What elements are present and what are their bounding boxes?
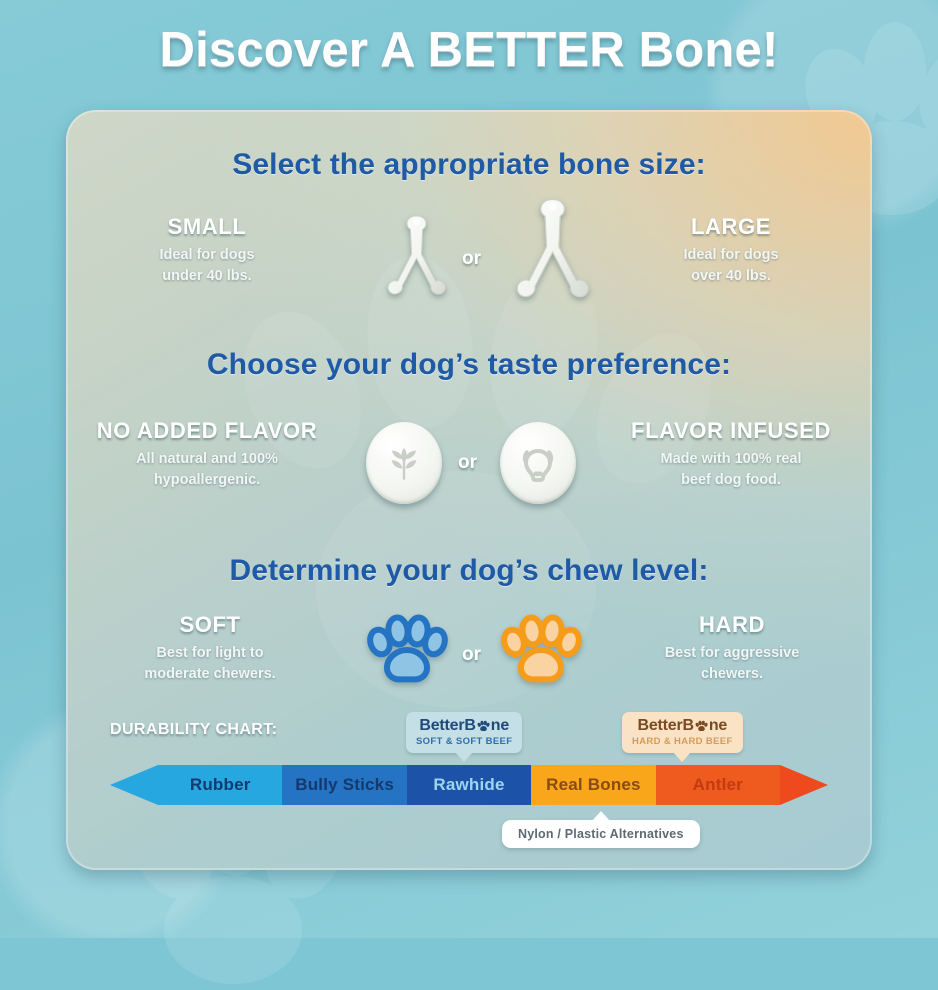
section-heading-chew-level: Determine your dog’s chew level:	[66, 554, 872, 588]
nylon-note-text: Nylon / Plastic Alternatives	[518, 827, 684, 841]
nylon-alternatives-note: Nylon / Plastic Alternatives	[502, 820, 700, 848]
cow-head-icon	[500, 422, 576, 504]
option-no-flavor-desc: All natural and 100% hypoallergenic.	[82, 449, 332, 491]
orange-paw-icon	[500, 612, 582, 690]
badge-betterbone-soft: BetterB ne SOFT & SOFT BEEF	[406, 712, 522, 753]
durability-segments: RubberBully SticksRawhideReal BonesAntle…	[158, 765, 780, 805]
option-flavor-infused-label: FLAVOR INFUSED	[606, 418, 856, 444]
section-heading-flavor: Choose your dog’s taste preference:	[66, 348, 872, 382]
durability-segment-bully-sticks: Bully Sticks	[282, 765, 406, 805]
page-title: Discover A BETTER Bone!	[0, 22, 938, 78]
option-large-label: LARGE	[616, 214, 846, 240]
durability-chart-label: DURABILITY CHART:	[110, 721, 277, 739]
badge-betterbone-hard: BetterB ne HARD & HARD BEEF	[622, 712, 743, 753]
infographic-card: Select the appropriate bone size: SMALL …	[66, 110, 872, 870]
badge-soft-brand-text: BetterB	[419, 717, 475, 735]
badge-hard-brand: BetterB ne	[632, 717, 733, 735]
nylon-note-pointer	[592, 811, 610, 821]
option-no-flavor-label: NO ADDED FLAVOR	[82, 418, 332, 444]
durability-segment-real-bones: Real Bones	[531, 765, 655, 805]
badge-hard-brand-text: BetterB	[637, 717, 693, 735]
scale-arrow-right-icon	[780, 765, 828, 805]
option-hard: HARD Best for aggressive chewers.	[612, 612, 852, 685]
badge-soft-pointer	[455, 752, 473, 762]
option-small: SMALL Ideal for dogs under 40 lbs.	[92, 214, 322, 287]
or-label-chew-level: or	[462, 644, 481, 666]
plant-leaf-icon	[366, 422, 442, 504]
badge-soft-brand: BetterB ne	[416, 717, 512, 735]
badge-hard-brand-end: ne	[709, 717, 727, 735]
or-label-flavor: or	[458, 452, 477, 474]
option-small-label: SMALL	[92, 214, 322, 240]
option-no-flavor: NO ADDED FLAVOR All natural and 100% hyp…	[82, 418, 332, 491]
option-hard-desc: Best for aggressive chewers.	[612, 643, 852, 685]
or-label-bone-size: or	[462, 248, 481, 270]
badge-hard-subtitle: HARD & HARD BEEF	[632, 736, 733, 747]
option-flavor-infused: FLAVOR INFUSED Made with 100% real beef …	[606, 418, 856, 491]
durability-segment-rawhide: Rawhide	[407, 765, 531, 805]
badge-soft-paw-icon	[477, 720, 490, 733]
option-soft-desc: Best for light to moderate chewers.	[90, 643, 330, 685]
section-heading-bone-size: Select the appropriate bone size:	[66, 148, 872, 182]
large-bone-icon	[506, 192, 598, 324]
small-bone-icon	[380, 210, 452, 316]
option-flavor-infused-desc: Made with 100% real beef dog food.	[606, 449, 856, 491]
option-soft: SOFT Best for light to moderate chewers.	[90, 612, 330, 685]
option-soft-label: SOFT	[90, 612, 330, 638]
badge-soft-brand-end: ne	[491, 717, 509, 735]
blue-paw-icon	[366, 612, 448, 690]
durability-scale-bar: RubberBully SticksRawhideReal BonesAntle…	[110, 765, 828, 805]
durability-segment-rubber: Rubber	[158, 765, 282, 805]
badge-hard-paw-icon	[695, 720, 708, 733]
scale-arrow-left-icon	[110, 765, 158, 805]
badge-soft-subtitle: SOFT & SOFT BEEF	[416, 736, 512, 747]
option-large: LARGE Ideal for dogs over 40 lbs.	[616, 214, 846, 287]
option-hard-label: HARD	[612, 612, 852, 638]
durability-segment-antler: Antler	[656, 765, 780, 805]
badge-hard-pointer	[673, 752, 691, 762]
option-small-desc: Ideal for dogs under 40 lbs.	[92, 245, 322, 287]
option-large-desc: Ideal for dogs over 40 lbs.	[616, 245, 846, 287]
